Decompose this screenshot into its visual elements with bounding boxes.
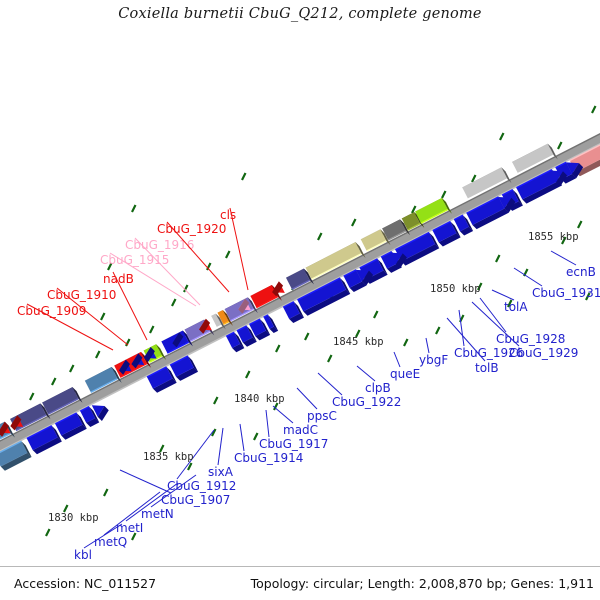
- scale-tick-label: 1830 kbp: [48, 512, 99, 524]
- gene-label[interactable]: CbuG_1931: [532, 286, 600, 300]
- scale-tick-label: 1835 kbp: [143, 451, 194, 463]
- gene-label[interactable]: ppsC: [307, 409, 337, 423]
- label-leader-line: [394, 352, 400, 367]
- green-marker: [214, 397, 218, 404]
- gene-label[interactable]: metN: [141, 507, 174, 521]
- gene-label[interactable]: CbuG_1912: [167, 479, 236, 493]
- label-leader-line: [480, 298, 506, 332]
- gene-label[interactable]: kbl: [74, 548, 92, 562]
- gene-label[interactable]: sixA: [208, 465, 234, 479]
- green-marker: [242, 173, 246, 180]
- genome-viewer: Coxiella burnetii CbuG_Q212, complete ge…: [0, 0, 600, 600]
- green-marker: [472, 175, 476, 182]
- green-marker: [96, 351, 100, 358]
- green-marker-layer: [18, 106, 596, 540]
- label-leader-line: [551, 251, 576, 265]
- gene-label[interactable]: CbuG_1910: [47, 288, 116, 302]
- gene-label[interactable]: madC: [283, 423, 318, 437]
- green-marker: [150, 326, 154, 333]
- label-leader-line: [240, 424, 244, 451]
- green-marker: [46, 529, 50, 536]
- gene-label[interactable]: CbuG_1916: [125, 238, 194, 252]
- scale-tick-label: 1840 kbp: [234, 393, 285, 405]
- green-marker: [318, 233, 322, 240]
- label-leader-line: [218, 428, 223, 465]
- green-marker: [305, 333, 309, 340]
- gene-label[interactable]: CbuG_1922: [332, 395, 401, 409]
- green-marker: [496, 255, 500, 262]
- gene-label[interactable]: nadB: [103, 272, 134, 286]
- gene-label[interactable]: CbuG_1928: [496, 332, 565, 346]
- gene-label[interactable]: tolA: [504, 300, 528, 314]
- gene-label[interactable]: CbuG_1914: [234, 451, 303, 465]
- green-marker: [436, 327, 440, 334]
- label-leader-line: [426, 338, 429, 353]
- green-marker: [374, 311, 378, 318]
- green-marker: [592, 106, 596, 113]
- gene-label[interactable]: ybgF: [419, 353, 448, 367]
- green-marker: [30, 393, 34, 400]
- label-leader-line: [266, 410, 269, 437]
- label-leader-line: [120, 470, 171, 493]
- status-bar: Accession: NC_011527 Topology: circular;…: [0, 566, 600, 600]
- gene-label[interactable]: tolB: [475, 361, 499, 375]
- label-leader-line: [514, 268, 542, 286]
- green-marker: [246, 371, 250, 378]
- green-marker: [70, 365, 74, 372]
- green-marker: [558, 142, 562, 149]
- gene-label[interactable]: clpB: [365, 381, 391, 395]
- green-marker: [64, 505, 68, 512]
- genome-summary-label: Topology: circular; Length: 2,008,870 bp…: [251, 576, 594, 591]
- green-marker: [352, 219, 356, 226]
- label-leader-line: [297, 388, 317, 409]
- label-leader-line: [318, 373, 342, 395]
- green-marker: [578, 221, 582, 228]
- green-marker: [412, 206, 416, 213]
- gene-label[interactable]: metQ: [94, 535, 127, 549]
- gene-label[interactable]: CbuG_1929: [509, 346, 578, 360]
- gene-label[interactable]: CbuG_1907: [161, 493, 230, 507]
- gene-label[interactable]: CbuG_1917: [259, 437, 328, 451]
- green-marker: [104, 489, 108, 496]
- green-marker: [500, 133, 504, 140]
- gene-label[interactable]: CbuG_1915: [100, 253, 169, 267]
- gene-label[interactable]: cls: [220, 208, 236, 222]
- green-marker: [132, 205, 136, 212]
- green-marker: [442, 191, 446, 198]
- label-leader-line: [492, 290, 514, 300]
- green-marker: [101, 313, 105, 320]
- genome-map-canvas[interactable]: kblmetQmetImetNCbuG_1907CbuG_1912sixACbu…: [0, 0, 600, 600]
- green-marker: [226, 251, 230, 258]
- scale-tick-label: 1845 kbp: [333, 336, 384, 348]
- gene-label[interactable]: metI: [116, 521, 143, 535]
- gene-label[interactable]: CbuG_1909: [17, 304, 86, 318]
- gene-label[interactable]: CbuG_1920: [157, 222, 226, 236]
- green-marker: [52, 378, 56, 385]
- gene-label[interactable]: queE: [390, 367, 420, 381]
- scale-tick-label: 1850 kbp: [430, 283, 481, 295]
- label-leader-line: [273, 406, 293, 423]
- green-marker: [276, 345, 280, 352]
- label-leader-line: [357, 366, 375, 381]
- accession-label: Accession: NC_011527: [14, 576, 156, 591]
- green-marker: [172, 299, 176, 306]
- green-marker: [404, 339, 408, 346]
- scale-tick-label: 1855 kbp: [528, 231, 579, 243]
- gene-label[interactable]: ecnB: [566, 265, 596, 279]
- green-marker: [328, 355, 332, 362]
- green-marker: [254, 433, 258, 440]
